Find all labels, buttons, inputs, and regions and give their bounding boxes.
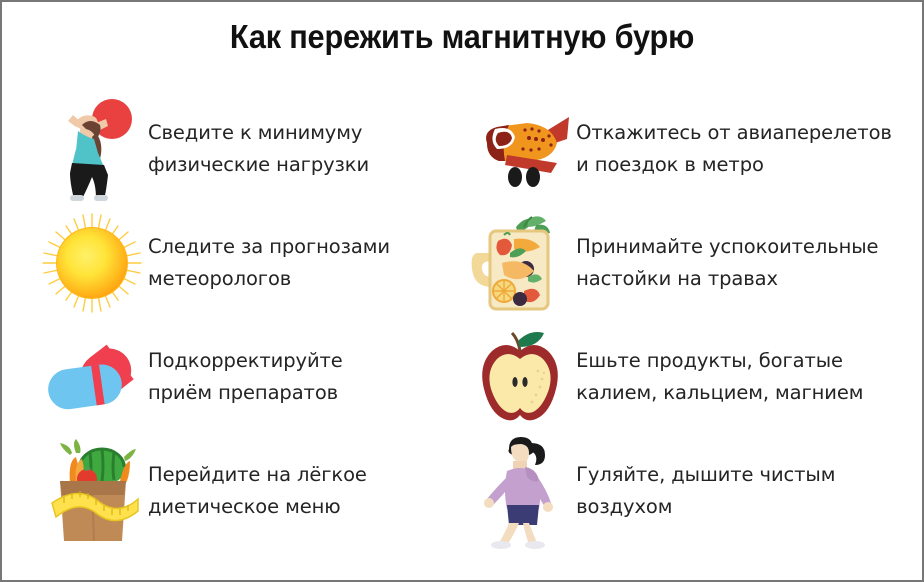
tip-item: Следите за прогнозами метеорологов — [36, 206, 440, 320]
tip-text: Принимайте успокоительные настойки на тр… — [576, 231, 878, 295]
tip-text: Перейдите на лёгкое диетическое меню — [148, 459, 367, 523]
tip-text: Откажитесь от авиаперелетов и поездок в … — [576, 117, 892, 181]
tip-text: Ешьте продукты, богатые калием, кальцием… — [576, 345, 863, 409]
pills-capsules-icon — [36, 323, 148, 431]
page-title: Как пережить магнитную бурю — [34, 18, 890, 56]
tips-column-left: Сведите к минимуму физические нагрузки — [2, 92, 440, 570]
tip-item: Гуляйте, дышите чистым воздухом — [464, 434, 922, 548]
apple-icon — [464, 323, 576, 431]
tip-item: Ешьте продукты, богатые калием, кальцием… — [464, 320, 922, 434]
airplane-icon — [464, 95, 576, 203]
infographic-poster: Как пережить магнитную бурю — [0, 0, 924, 582]
sun-icon — [36, 209, 148, 317]
tip-item: Подкорректируйте приём препаратов — [36, 320, 440, 434]
tip-item: Сведите к минимуму физические нагрузки — [36, 92, 440, 206]
tip-text: Сведите к минимуму физические нагрузки — [148, 117, 369, 181]
tips-columns: Сведите к минимуму физические нагрузки — [2, 92, 922, 570]
tips-column-right: Откажитесь от авиаперелетов и поездок в … — [440, 92, 922, 570]
tip-item: Принимайте успокоительные настойки на тр… — [464, 206, 922, 320]
tip-item: Откажитесь от авиаперелетов и поездок в … — [464, 92, 922, 206]
herbal-tea-mug-icon — [464, 209, 576, 317]
woman-exercising-with-ball-icon — [36, 95, 148, 203]
walking-woman-icon — [464, 437, 576, 545]
tip-text: Подкорректируйте приём препаратов — [148, 345, 343, 409]
tip-text: Гуляйте, дышите чистым воздухом — [576, 459, 835, 523]
tip-item: Перейдите на лёгкое диетическое меню — [36, 434, 440, 548]
tip-text: Следите за прогнозами метеорологов — [148, 231, 390, 295]
grocery-bag-measuring-tape-icon — [36, 437, 148, 545]
